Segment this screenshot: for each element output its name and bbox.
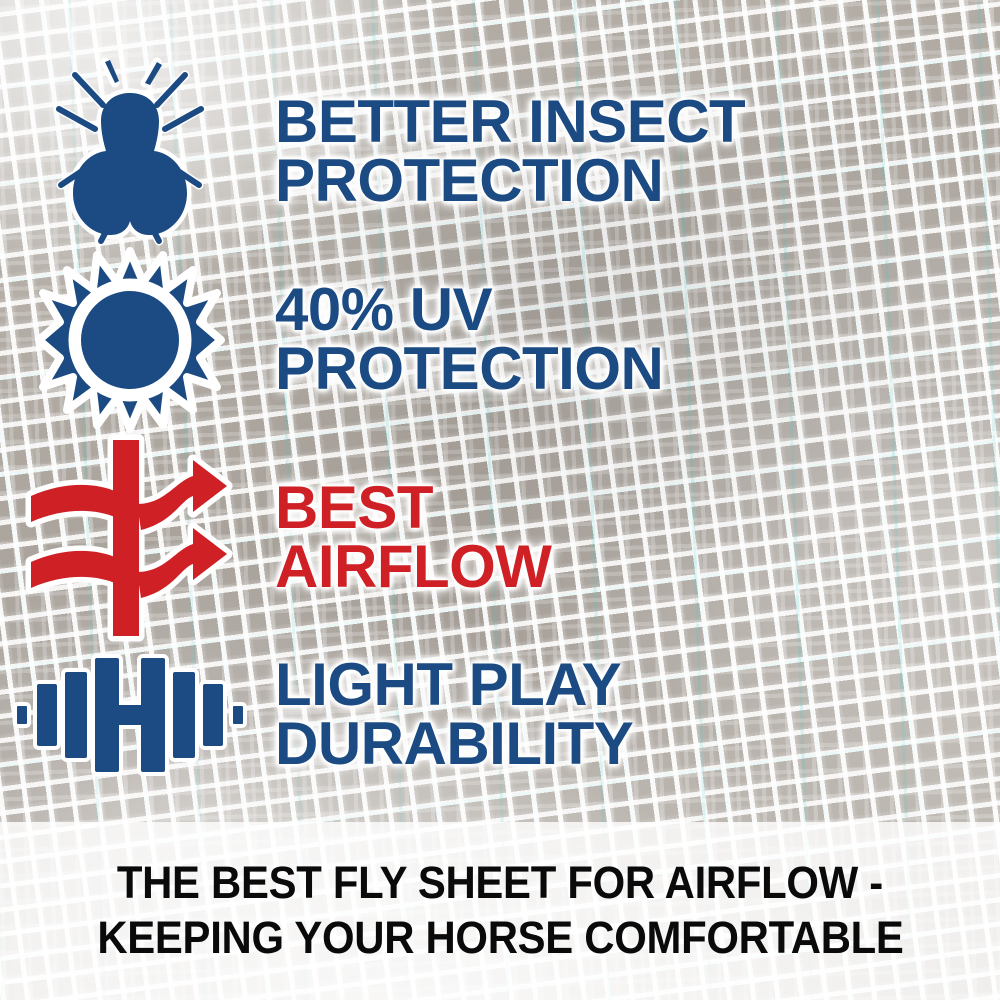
airflow-shapes (31, 440, 227, 636)
feature-text-insect: BETTER INSECT PROTECTION (260, 93, 1000, 211)
feature-line: DURABILITY (275, 715, 1000, 774)
feature-list: BETTER INSECT PROTECTION 40% UV PROTECTI… (0, 0, 1000, 822)
feature-icon-wrap-uv (0, 249, 260, 431)
feature-text-airflow: BEST AIRFLOW (260, 479, 1000, 597)
feature-row-insect: BETTER INSECT PROTECTION (0, 52, 1000, 252)
feature-line: PROTECTION (275, 152, 1000, 211)
sun-disc (81, 291, 179, 389)
feature-row-durability: LIGHT PLAY DURABILITY (0, 630, 1000, 800)
poster-root: BETTER INSECT PROTECTION 40% UV PROTECTI… (0, 0, 1000, 1000)
fly-icon (45, 57, 215, 247)
feature-row-airflow: BEST AIRFLOW (0, 435, 1000, 640)
feature-line: LIGHT PLAY (275, 656, 1000, 715)
feature-text-uv: 40% UV PROTECTION (260, 281, 1000, 399)
feature-line: 40% UV (275, 281, 1000, 340)
feature-icon-wrap-insect (0, 57, 260, 247)
feature-icon-wrap-airflow (0, 438, 260, 638)
dumbbell-icon (15, 650, 245, 780)
feature-line: BETTER INSECT (275, 93, 1000, 152)
feature-icon-wrap-durability (0, 650, 260, 780)
banner-tagline-line-2: KEEPING YOUR HORSE COMFORTABLE (97, 911, 903, 966)
feature-row-uv: 40% UV PROTECTION (0, 245, 1000, 435)
bottom-banner: THE BEST FLY SHEET FOR AIRFLOW - KEEPING… (0, 822, 1000, 1000)
airflow-icon (25, 438, 235, 638)
feature-text-durability: LIGHT PLAY DURABILITY (260, 656, 1000, 774)
feature-line: BEST (275, 479, 1000, 538)
banner-tagline-line-1: THE BEST FLY SHEET FOR AIRFLOW - (117, 856, 883, 911)
sun-icon (39, 249, 221, 431)
feature-line: AIRFLOW (275, 538, 1000, 597)
feature-line: PROTECTION (275, 340, 1000, 399)
